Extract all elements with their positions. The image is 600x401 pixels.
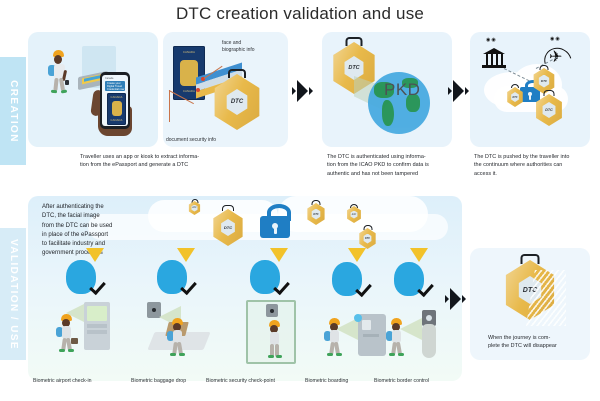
shoe-back [51,90,57,94]
camera-security[interactable] [266,304,278,317]
scene-label-baggage: Biometric baggage drop [131,378,186,384]
scene-label-checkin: Biometric airport check-in [33,378,92,384]
beam-border [410,248,428,262]
passport-country-label: CANADA [183,51,195,54]
arrow-step1-to-step2 [292,80,313,102]
shoe-front [336,353,342,356]
beam-checkin [86,248,104,262]
panel-authenticate: DTC PKD [322,32,452,147]
panel-continuum: ◉◉ ✈ ◉◉ DTC DTC [470,32,590,147]
caption-journey-complete: When the journey is com- plete the DTC w… [488,334,596,351]
scene-security [224,248,310,368]
dtc-token-float-small-3: DTC [346,206,362,223]
shoe-back [170,353,176,356]
checkin-kiosk[interactable] [84,302,110,350]
dtc-token-cloud-2: DTC [534,94,564,126]
beam-boarding [348,248,366,262]
phone-brand: Canada [105,77,113,80]
beam-baggage [177,248,195,262]
traveller-border [384,318,412,360]
annotation-face-biographic: face and biographic info [222,40,255,54]
shoe-front [61,90,67,94]
passport-country: CANADA [110,96,122,99]
traveller-checkin [54,314,84,358]
leader-dot-bottom [196,88,200,92]
pkd-label: PKD [384,80,420,100]
kiosk-display [87,306,107,321]
arrow-to-final [445,288,466,310]
dtc-token-float-small-4: DTC [358,228,377,249]
dtc-token-label: DTC [225,89,249,115]
shoe-front [398,353,404,356]
shoe-back [59,349,65,352]
watching-eyes-icon-left: ◉◉ [486,37,497,43]
leader-line-bottom-v [169,90,170,122]
panel-validation-use: After authenticating the DTC, the facial… [28,196,462,381]
traveller-boarding [322,318,350,360]
section-tab-creation-label: CREATION [8,80,19,143]
head [54,55,62,64]
scene-checkin [46,248,124,368]
passport-bottom-label: CANADA [183,90,195,93]
government-building-icon [482,48,506,68]
dtc-token-cloud-3: DTC [506,87,524,107]
dtc-token-float-large: DTC [211,209,245,246]
annotation-document-security: document security info [166,137,216,144]
shoe-front [276,355,282,358]
traveller-figure [44,50,78,120]
caption-traveller: Traveller uses an app or kiosk to extrac… [80,153,230,170]
section-tab-validation-label: VALIDATION / USE [8,239,19,350]
passport-type: CANADA [110,119,122,122]
shoe-back [268,355,274,358]
arrow-step3-to-step4 [448,80,469,102]
caption-authenticate: The DTC is authenticated using informa- … [327,153,477,178]
page-title: DTC creation validation and use [0,4,600,24]
shoe-front [68,349,74,352]
section-tab-creation: CREATION [0,57,26,165]
passport-crest [112,101,122,116]
smartphone: Canada Create your Digital Travel Creden… [100,72,130,129]
scene-baggage [133,248,215,368]
dtc-token-float-small-1: DTC [188,201,201,215]
section-tab-validation: VALIDATION / USE [0,228,26,360]
dtc-token-large: DTC [211,74,263,130]
passport-on-screen: CANADA CANADA [107,93,126,125]
infographic-root: DTC creation validation and use CREATION… [0,0,600,401]
shoe-front [179,353,185,356]
traveller-security [262,320,290,362]
suitcase [71,338,78,344]
shoe-back [327,353,333,356]
watching-eyes-icon-right: ◉◉ [550,36,561,42]
beam-security [270,248,288,262]
held-phone [65,80,69,85]
panel-traveller: Canada Create your Digital Travel Creden… [28,32,158,147]
phone-cta-line3: Credential now [107,88,124,91]
caption-continuum: The DTC is pushed by the traveller into … [474,153,598,178]
padlock-icon-center [260,204,290,238]
dtc-token-float-small-2: DTC [306,203,326,225]
scene-label-boarding: Biometric boarding [305,378,348,384]
traveller-baggage [165,318,195,362]
phone-screen[interactable]: Canada Create your Digital Travel Creden… [102,75,128,126]
scene-label-border: Biometric border control [374,378,429,384]
border-egate-pillar [422,324,436,358]
boarding-scan-dot [354,314,362,322]
scene-label-security: Biometric security check-point [206,378,275,384]
shoe-back [389,353,395,356]
